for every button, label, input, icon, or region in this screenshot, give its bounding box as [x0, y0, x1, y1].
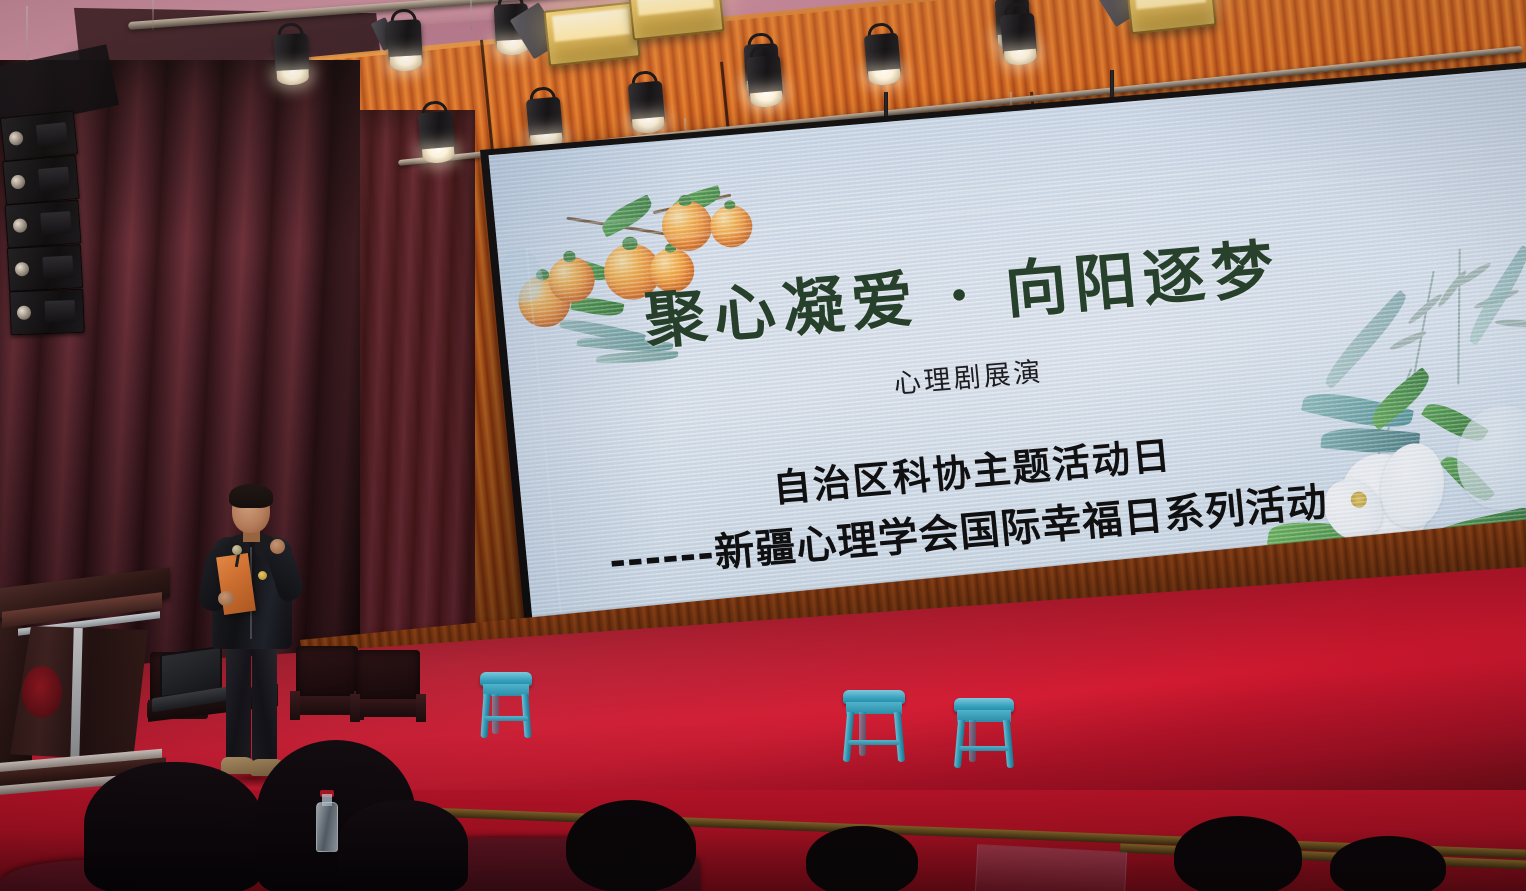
presenter-badge — [258, 571, 267, 580]
stage-spotlight — [1000, 11, 1039, 70]
stage-chair — [356, 650, 420, 734]
plastic-stool[interactable] — [843, 690, 905, 766]
stage-spotlight — [418, 109, 457, 168]
needle-leaf — [1495, 319, 1526, 328]
truss-hanger — [470, 0, 472, 30]
foliage-frond — [1318, 290, 1413, 390]
audience-member — [806, 826, 918, 891]
line-array-speaker — [0, 62, 92, 352]
microphone-icon — [232, 545, 242, 555]
truss-hanger — [152, 0, 154, 30]
needle-leaf — [1436, 268, 1469, 309]
audience-head — [806, 826, 918, 891]
slide-subtitle: 心理剧展演 — [892, 350, 1045, 401]
audience-hair — [84, 762, 264, 891]
stage-chair — [296, 646, 358, 732]
stage-spotlight — [387, 17, 424, 75]
slide-guide-line — [504, 144, 1526, 233]
needle-leaf — [1388, 329, 1427, 352]
presenter-hair — [229, 484, 273, 508]
bottle-body — [316, 802, 338, 852]
presenter-hand-left — [218, 591, 234, 606]
speaker-module — [9, 289, 84, 336]
audience-hair — [338, 800, 468, 891]
photo-scene: 聚心凝爱 · 向阳逐梦 心理剧展演 自治区科协主题活动日 ------新疆心理学… — [0, 0, 1526, 891]
foliage-frond — [1463, 245, 1526, 346]
stage-spotlight — [274, 31, 311, 89]
audience-member — [566, 800, 696, 891]
audience-member — [1174, 816, 1302, 891]
stage-spotlight — [864, 31, 903, 90]
audience-member — [1330, 836, 1446, 891]
sprig-stem — [1457, 249, 1460, 385]
plastic-stool[interactable] — [480, 672, 532, 740]
audience-member — [338, 800, 468, 891]
stage-spotlight — [746, 53, 785, 112]
lectern-emblem — [22, 666, 62, 718]
audience-head — [1330, 836, 1446, 891]
speaker-module — [7, 244, 83, 292]
audience-head — [566, 800, 696, 891]
presenter-hand-right — [270, 539, 285, 554]
fresnel-light — [543, 1, 640, 66]
speaker-module — [5, 199, 82, 248]
audience-member — [84, 762, 264, 891]
presenter-leg-left — [226, 645, 251, 761]
plastic-stool[interactable] — [954, 698, 1014, 772]
water-bottle — [316, 790, 338, 852]
speaker-module — [0, 110, 78, 161]
seat-monitor — [975, 844, 1127, 891]
rigging-wire — [26, 6, 28, 66]
stage-spotlight — [628, 79, 667, 138]
audience-head — [1174, 816, 1302, 891]
speaker-module — [2, 155, 80, 205]
